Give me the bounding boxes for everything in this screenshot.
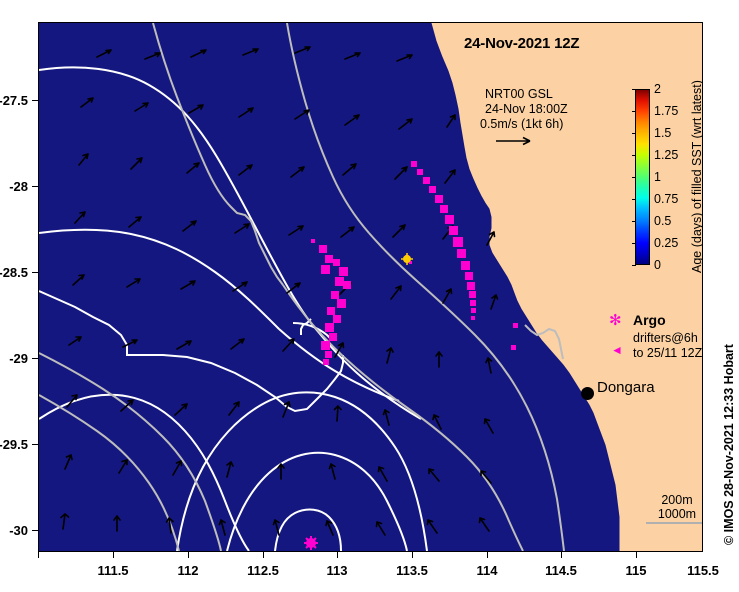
x-tick: [337, 552, 338, 558]
scale-label-1000m: 1000m: [642, 507, 703, 521]
sst-age-map-figure: 24-Nov-2021 12Z NRT00 GSL 24-Nov 18:00Z …: [0, 0, 739, 592]
colorbar-tick: [632, 199, 636, 200]
colorbar-tick: [632, 155, 636, 156]
colorbar-label-175: 1.75: [654, 104, 678, 118]
colorbar-label-1: 1: [654, 170, 661, 184]
x-tick: [487, 552, 488, 558]
annotation-time: 24-Nov 18:00Z: [485, 102, 568, 117]
colorbar-tick: [632, 133, 636, 134]
colorbar-tick: [632, 111, 636, 112]
map-canvas: [39, 23, 702, 551]
x-tick-label-115-5: 115.5: [673, 563, 733, 578]
colorbar-title: Age (days) of filled SST (wrt latest): [690, 80, 703, 273]
x-tick: [412, 552, 413, 558]
annotation-speed-scale: 0.5m/s (1kt 6h): [480, 117, 563, 132]
x-tick: [263, 552, 264, 558]
y-tick: [32, 530, 38, 531]
colorbar-label-0: 0: [654, 258, 661, 272]
legend-drifter-label-2: to 25/11 12Z: [633, 346, 702, 361]
argo-marker-icon: ✻: [609, 313, 622, 328]
x-tick: [561, 552, 562, 558]
map-plot-area[interactable]: 24-Nov-2021 12Z NRT00 GSL 24-Nov 18:00Z …: [38, 22, 703, 552]
colorbar-gradient: [635, 89, 650, 265]
x-tick-label-112: 112: [158, 563, 218, 578]
scale-label-200m: 200m: [642, 493, 703, 507]
y-tick-label-30: -30: [0, 523, 28, 538]
colorbar-label-075: 0.75: [654, 192, 678, 206]
x-tick-label-114-5: 114.5: [531, 563, 591, 578]
x-tick: [188, 552, 189, 558]
annotation-source: NRT00 GSL: [485, 87, 553, 102]
imos-credit: © IMOS 28-Nov-2021 12:33 Hobart: [722, 344, 736, 545]
legend-drifter-label-1: drifters@6h: [633, 331, 698, 346]
y-tick: [32, 100, 38, 101]
x-tick-label-113-5: 113.5: [382, 563, 442, 578]
drifter-marker-icon: ◄: [611, 344, 623, 356]
map-legend: ✻ Argo ◄ drifters@6h to 25/11 12Z: [609, 311, 703, 365]
colorbar-label-025: 0.25: [654, 236, 678, 250]
y-tick: [32, 444, 38, 445]
colorbar-tick: [632, 243, 636, 244]
colorbar-label-15: 1.5: [654, 126, 671, 140]
colorbar-tick: [632, 265, 636, 266]
x-tick-label-115: 115: [606, 563, 666, 578]
colorbar-label-125: 1.25: [654, 148, 678, 162]
y-tick-label-27-5: -27.5: [0, 93, 28, 108]
dongara-marker-dot: [581, 387, 594, 400]
x-tick-label-111-5: 111.5: [83, 563, 143, 578]
y-tick: [32, 358, 38, 359]
x-tick-label-112-5: 112.5: [233, 563, 293, 578]
y-tick-label-29: -29: [0, 351, 28, 366]
x-tick-label-114: 114: [457, 563, 517, 578]
legend-argo-label: Argo: [633, 312, 666, 328]
x-tick: [38, 552, 39, 558]
colorbar-label-2: 2: [654, 82, 661, 96]
y-tick: [32, 186, 38, 187]
colorbar-tick: [632, 89, 636, 90]
y-tick-label-28: -28: [0, 179, 28, 194]
colorbar-tick: [632, 177, 636, 178]
depth-scale-legend: 200m 1000m: [642, 493, 703, 524]
x-tick-label-113: 113: [307, 563, 367, 578]
x-tick: [113, 552, 114, 558]
date-stamp: 24-Nov-2021 12Z: [464, 35, 579, 52]
y-tick-label-29-5: -29.5: [0, 437, 28, 452]
colorbar-tick: [632, 221, 636, 222]
scale-line: [646, 522, 703, 524]
x-tick: [636, 552, 637, 558]
y-tick: [32, 272, 38, 273]
y-tick-label-28-5: -28.5: [0, 265, 28, 280]
speed-scale-arrow-icon: [494, 135, 540, 147]
colorbar-label-05: 0.5: [654, 214, 671, 228]
dongara-label: Dongara: [597, 379, 655, 396]
